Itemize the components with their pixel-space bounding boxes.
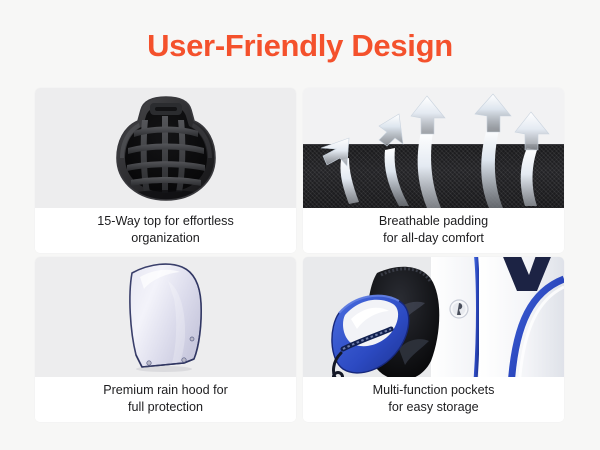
- caption-line-2: for easy storage: [373, 399, 495, 416]
- feature-image-multi-function-pockets: [303, 257, 564, 377]
- feature-grid: 15-Way top for effortless organization: [35, 88, 559, 422]
- feature-caption-breathable-padding: Breathable padding for all-day comfort: [303, 208, 564, 253]
- page-title: User-Friendly Design: [0, 26, 600, 66]
- golf-bag-pocket-icon: [303, 257, 564, 377]
- caption-line-1: 15-Way top for effortless: [97, 213, 234, 230]
- feature-image-rain-hood: [35, 257, 296, 377]
- feature-card-breathable-padding[interactable]: Breathable padding for all-day comfort: [303, 88, 564, 253]
- caption-line-2: full protection: [103, 399, 228, 416]
- golf-bag-top-icon: [112, 94, 220, 204]
- airflow-arrows-icon: [303, 88, 564, 208]
- caption-line-1: Premium rain hood for: [103, 382, 228, 399]
- caption-line-2: organization: [97, 230, 234, 247]
- feature-caption-multi-function-pockets: Multi-function pockets for easy storage: [303, 377, 564, 422]
- rain-hood-icon: [106, 259, 226, 377]
- feature-card-rain-hood[interactable]: Premium rain hood for full protection: [35, 257, 296, 422]
- feature-caption-fifteen-way-top: 15-Way top for effortless organization: [35, 208, 296, 253]
- feature-card-fifteen-way-top[interactable]: 15-Way top for effortless organization: [35, 88, 296, 253]
- feature-image-breathable-padding: [303, 88, 564, 208]
- feature-caption-rain-hood: Premium rain hood for full protection: [35, 377, 296, 422]
- feature-card-multi-function-pockets[interactable]: Multi-function pockets for easy storage: [303, 257, 564, 422]
- feature-highlight-page: User-Friendly Design: [0, 0, 600, 450]
- feature-image-golf-bag-divider-top: [35, 88, 296, 208]
- caption-line-1: Breathable padding: [379, 213, 488, 230]
- caption-line-2: for all-day comfort: [379, 230, 488, 247]
- caption-line-1: Multi-function pockets: [373, 382, 495, 399]
